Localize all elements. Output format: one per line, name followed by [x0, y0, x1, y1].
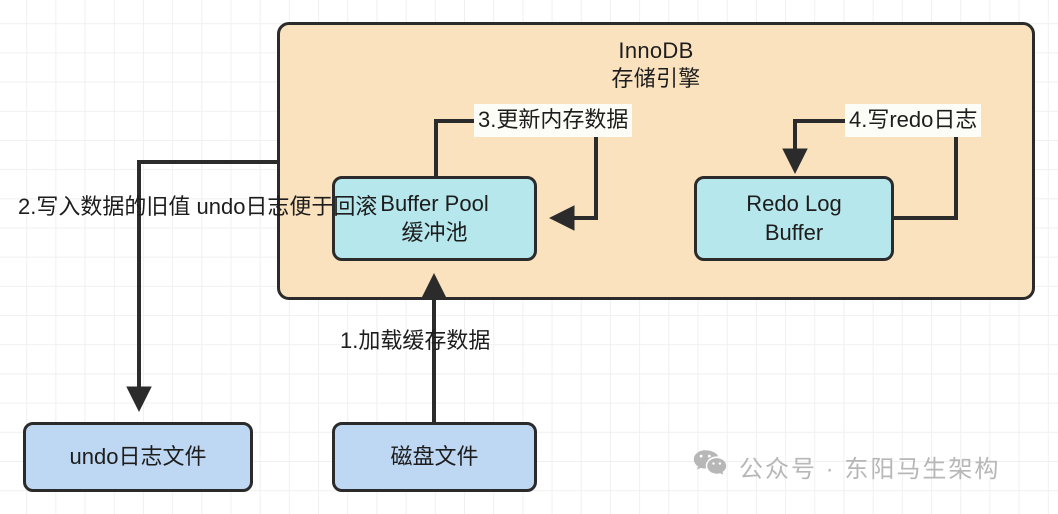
edge-label-update-memory: 3.更新内存数据	[474, 104, 632, 137]
edge-label-load-cache: 1.加载缓存数据	[340, 327, 490, 356]
buffer-pool-label-en: Buffer Pool	[380, 190, 488, 218]
edge-label-undo-write-line2: undo日志便于回滚	[196, 194, 377, 219]
watermark-text: 公众号 · 东阳马生架构	[739, 449, 1000, 484]
edge-label-write-redo: 4.写redo日志	[845, 104, 981, 137]
watermark: 公众号 · 东阳马生架构	[693, 449, 1000, 484]
edge-label-undo-write-line1: 2.写入数据的旧值	[18, 194, 190, 219]
innodb-title-en: InnoDB	[618, 37, 693, 65]
undo-log-file-label: undo日志文件	[70, 443, 207, 471]
wechat-icon	[693, 449, 727, 484]
redo-log-buffer-box[interactable]: Redo Log Buffer	[694, 176, 894, 261]
disk-file-box[interactable]: 磁盘文件	[332, 422, 537, 492]
buffer-pool-label-cn: 缓冲池	[401, 219, 467, 247]
edge-label-undo-write: 2.写入数据的旧值 undo日志便于回滚	[18, 193, 263, 222]
redo-log-buffer-label-line1: Redo Log	[746, 190, 841, 218]
diagram-canvas: InnoDB 存储引擎	[0, 0, 1058, 514]
undo-log-file-box[interactable]: undo日志文件	[23, 422, 253, 492]
innodb-title-cn: 存储引擎	[611, 65, 700, 93]
redo-log-buffer-label-line2: Buffer	[765, 219, 823, 247]
disk-file-label: 磁盘文件	[390, 443, 478, 471]
